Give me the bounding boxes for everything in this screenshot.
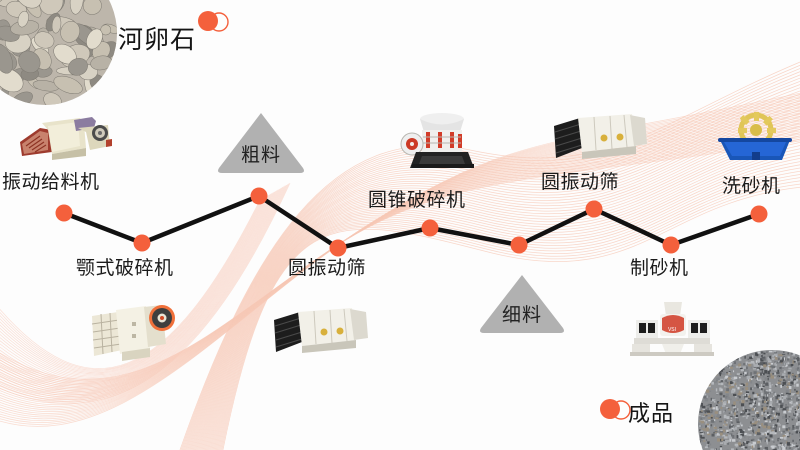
page-title-product: 成品 — [628, 396, 674, 428]
node-label-n7: 圆振动筛 — [541, 172, 619, 193]
flow-node-n6[interactable] — [511, 237, 528, 254]
flow-node-n3[interactable] — [251, 188, 268, 205]
page-title-source: 河卵石 — [118, 20, 196, 56]
flow-node-n9[interactable] — [751, 206, 768, 223]
bullet-marker-icon — [598, 398, 632, 420]
node-label-n2: 颚式破碎机 — [76, 258, 174, 279]
node-label-n5: 圆锥破碎机 — [368, 190, 466, 211]
flow-node-n2[interactable] — [134, 235, 151, 252]
flow-node-n5[interactable] — [422, 220, 439, 237]
flow-node-n1[interactable] — [56, 205, 73, 222]
flow-polyline — [0, 0, 800, 450]
node-label-n9: 洗砂机 — [722, 176, 781, 197]
flow-node-n4[interactable] — [330, 240, 347, 257]
process-flow-diagram: 粗料 细料 — [0, 0, 800, 450]
node-label-n4: 圆振动筛 — [288, 258, 366, 279]
bullet-marker-icon — [196, 10, 230, 32]
flow-node-n8[interactable] — [663, 237, 680, 254]
node-label-n8: 制砂机 — [630, 258, 689, 279]
node-label-n1: 振动给料机 — [2, 172, 100, 193]
flow-node-n7[interactable] — [586, 201, 603, 218]
